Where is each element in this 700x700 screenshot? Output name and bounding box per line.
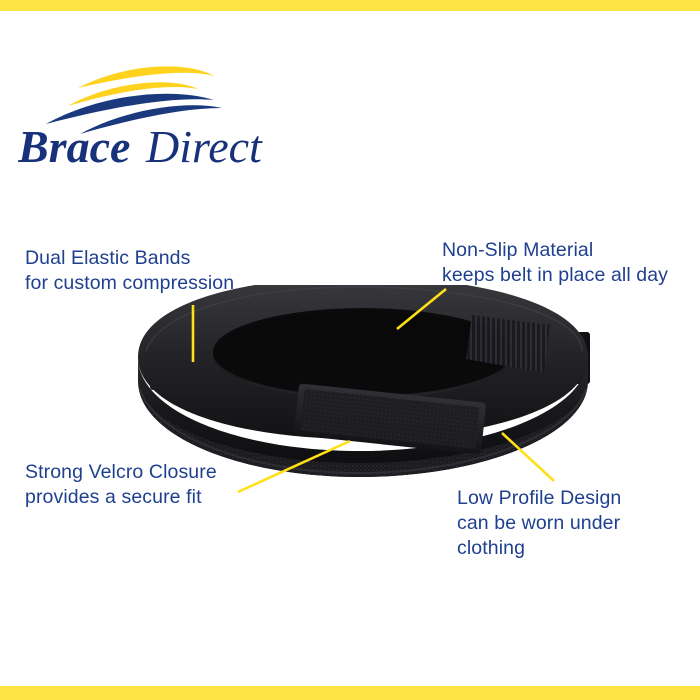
callout-line-3: clothing [457,536,621,561]
callout-strong-velcro-closure: Strong Velcro Closure provides a secure … [25,460,217,510]
callout-line-2: keeps belt in place all day [442,263,668,288]
logo-word-brace: Brace [18,121,130,172]
callout-line-2: can be worn under [457,511,621,536]
callout-line-2: provides a secure fit [25,485,217,510]
bottom-accent-bar [0,686,700,700]
top-accent-bar [0,0,700,11]
callout-line-1: Non-Slip Material [442,238,668,263]
callout-dual-elastic-bands: Dual Elastic Bands for custom compressio… [25,246,234,296]
brace-direct-logo: Brace Direct [18,62,293,172]
callout-line-1: Low Profile Design [457,486,621,511]
callout-line-1: Strong Velcro Closure [25,460,217,485]
infographic-canvas: Brace Direct [0,0,700,700]
callout-low-profile-design: Low Profile Design can be worn under clo… [457,486,621,561]
callout-line-2: for custom compression [25,271,234,296]
callout-non-slip-material: Non-Slip Material keeps belt in place al… [442,238,668,288]
callout-line-1: Dual Elastic Bands [25,246,234,271]
logo-word-direct: Direct [145,121,263,172]
